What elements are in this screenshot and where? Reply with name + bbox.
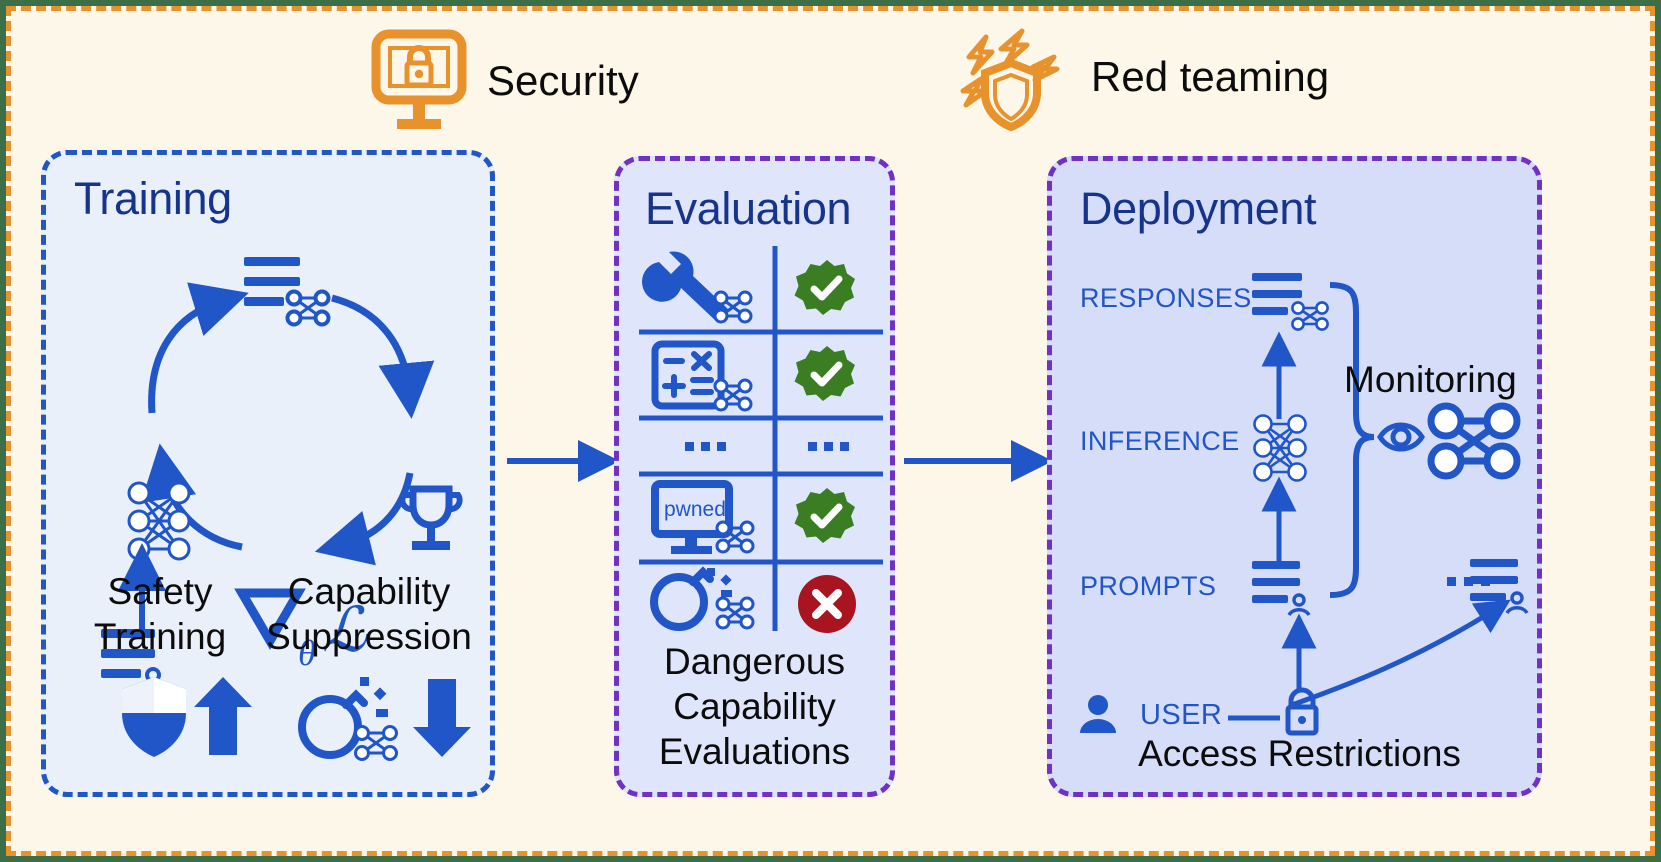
user-icon bbox=[1080, 695, 1116, 733]
arrow-inference-to-responses bbox=[1264, 341, 1294, 423]
neural-network-icon bbox=[121, 480, 197, 562]
svg-text:pwned: pwned bbox=[664, 498, 726, 521]
panel-title-evaluation: Evaluation bbox=[645, 183, 851, 235]
user-lock-connector bbox=[1228, 713, 1280, 723]
arrow-prompts-to-inference bbox=[1264, 486, 1294, 568]
label-user: USER bbox=[1140, 699, 1222, 732]
down-arrow-icon bbox=[413, 679, 471, 757]
neural-network-icon bbox=[1248, 413, 1312, 483]
ellipsis-result bbox=[808, 442, 849, 451]
shield-lightning-icon bbox=[951, 23, 1071, 131]
panel-deployment: Deployment RESPONSES INFERENCE PROMPTS bbox=[1047, 156, 1542, 797]
label-monitoring: Monitoring bbox=[1344, 357, 1517, 402]
panel-evaluation: Evaluation bbox=[614, 156, 895, 797]
ellipsis-task bbox=[685, 442, 726, 451]
label-prompts: PROMPTS bbox=[1080, 571, 1216, 602]
label-capability-suppression: Capability Suppression bbox=[254, 569, 484, 659]
header-label-red-teaming: Red teaming bbox=[1091, 53, 1329, 101]
trophy-icon bbox=[396, 485, 466, 557]
network-icon bbox=[1431, 406, 1517, 476]
header-item-red-teaming: Red teaming bbox=[951, 23, 1329, 131]
diagram-root: Security Red teaming Trainin bbox=[0, 0, 1661, 862]
arrow-lock-to-prompts bbox=[1286, 623, 1316, 693]
green-check-badge bbox=[795, 346, 856, 401]
header-item-security: Security bbox=[371, 29, 639, 133]
panel-title-deployment: Deployment bbox=[1080, 183, 1316, 235]
red-x-badge bbox=[798, 575, 856, 633]
arrow-training-to-evaluation bbox=[507, 448, 615, 474]
label-inference: INFERENCE bbox=[1080, 426, 1240, 457]
diagram-canvas: Security Red teaming Trainin bbox=[6, 6, 1655, 856]
label-safety-training: Safety Training bbox=[70, 569, 250, 659]
dataset-network-icon bbox=[244, 255, 336, 329]
monitor-lock-icon bbox=[371, 29, 467, 133]
dangerous-capability-table: pwned bbox=[633, 246, 883, 631]
evaluation-caption: Dangerous Capability Evaluations bbox=[619, 639, 890, 774]
shield-up-group bbox=[118, 673, 258, 759]
panel-title-training: Training bbox=[74, 173, 232, 225]
wrench-network-icon bbox=[642, 251, 751, 322]
monitor-pwned-network-icon: pwned bbox=[655, 484, 753, 554]
label-responses: RESPONSES bbox=[1080, 283, 1252, 314]
header-label-security: Security bbox=[487, 57, 639, 105]
calculator-network-icon bbox=[655, 344, 751, 410]
panel-training: Training bbox=[41, 150, 495, 797]
green-check-badge bbox=[795, 488, 856, 543]
bomb-network-icon bbox=[654, 568, 753, 628]
label-access-restrictions: Access Restrictions bbox=[1052, 731, 1547, 776]
green-check-badge bbox=[795, 260, 856, 315]
arrow-evaluation-to-deployment bbox=[904, 448, 1049, 474]
bomb-network-icon bbox=[302, 677, 397, 760]
bomb-down-group bbox=[294, 671, 484, 763]
up-arrow-icon bbox=[194, 677, 252, 755]
eye-icon bbox=[1380, 425, 1422, 449]
